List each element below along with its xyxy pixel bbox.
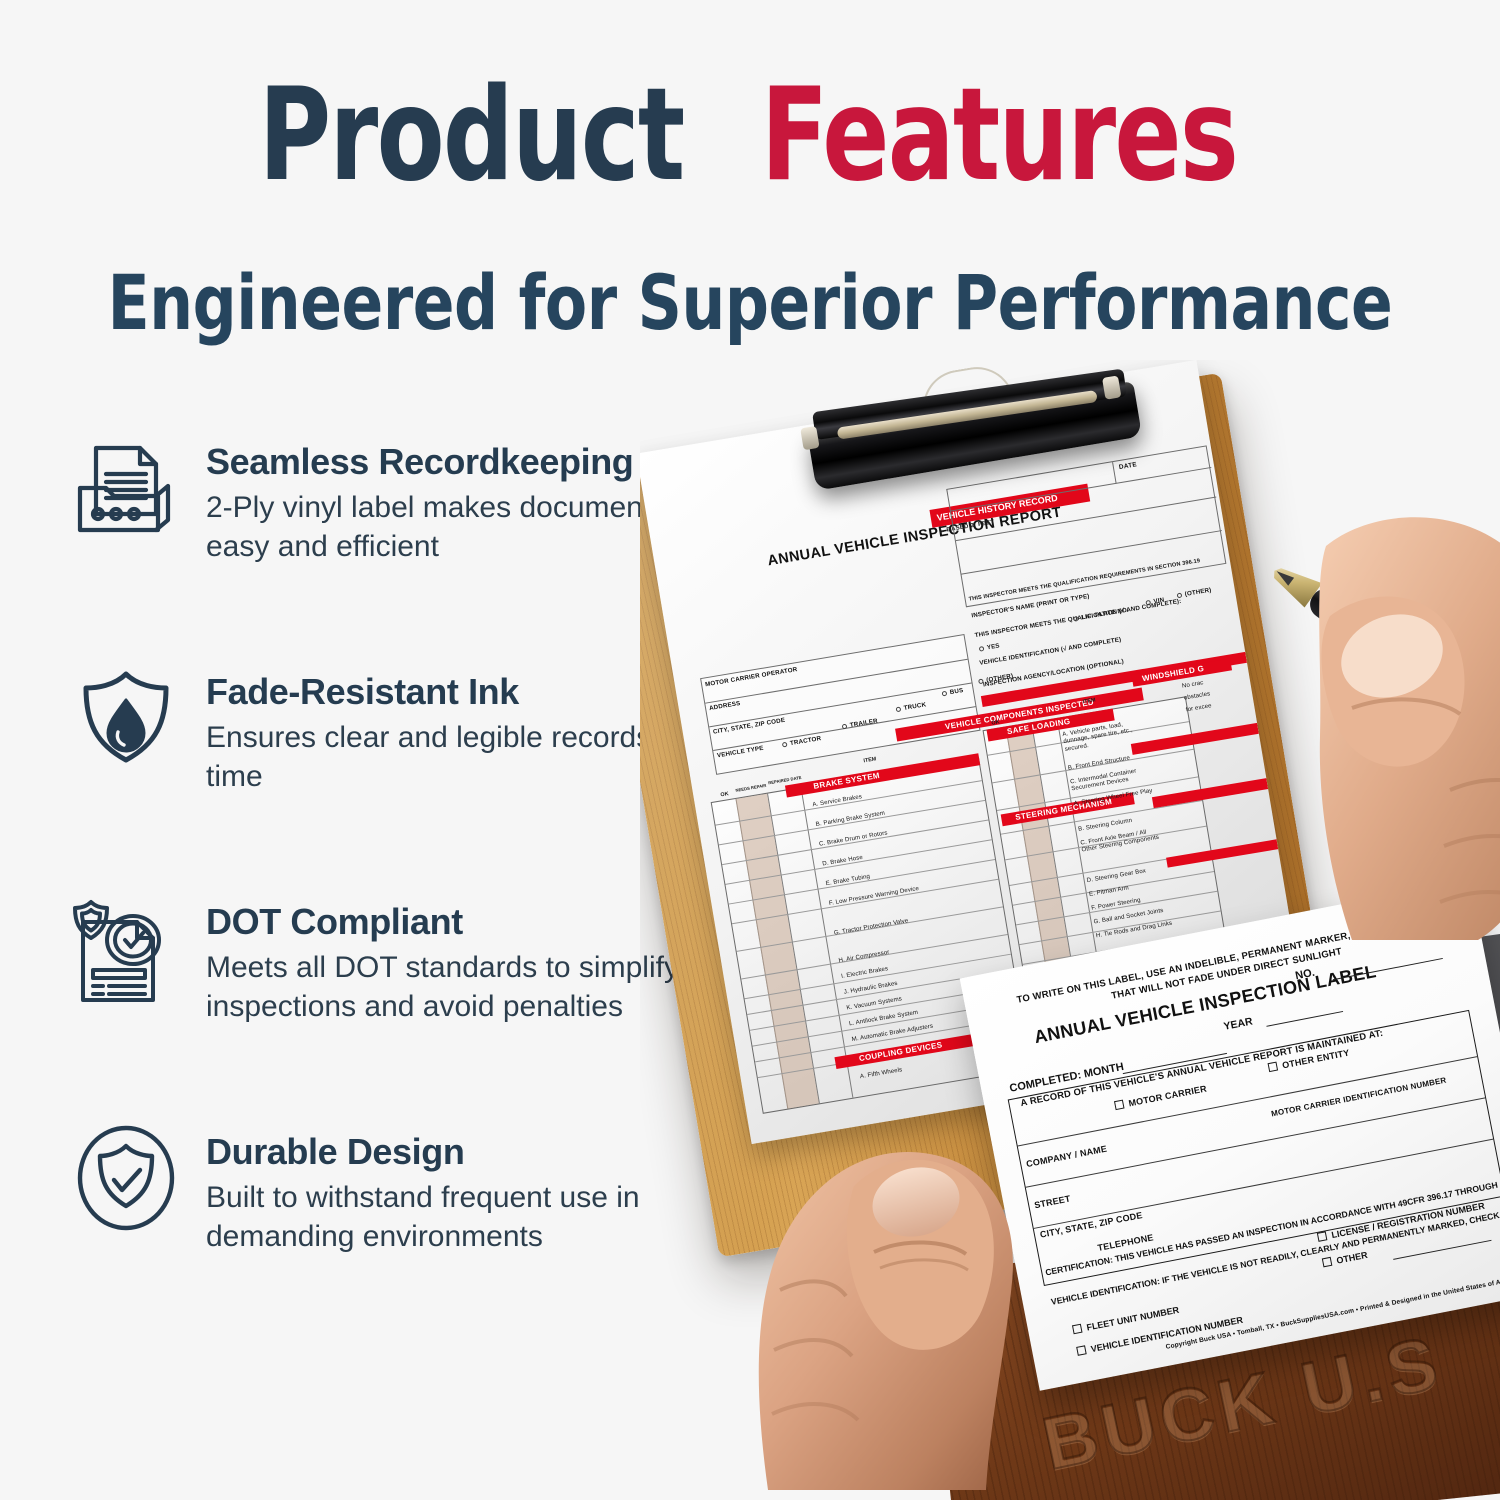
tractor-radio[interactable]: [782, 742, 788, 748]
lic-plate-option: LIC. PLATE NO.: [1073, 607, 1129, 623]
other-type-radio[interactable]: [978, 679, 984, 685]
page-subtitle: Engineered for Superior Performance: [75, 258, 1425, 347]
clip-pivot-right: [1102, 375, 1121, 399]
vin-radio[interactable]: [1145, 600, 1151, 606]
truck-radio[interactable]: [896, 707, 902, 713]
product-photo: BUCK U.S ANNUAL VEHICLE INSPECTION REPOR…: [640, 360, 1500, 1500]
col-needs-repair: NEEDS REPAIR: [735, 783, 767, 793]
hand-holding-clipboard: [750, 990, 1130, 1490]
lic-plate-radio[interactable]: [1073, 616, 1079, 622]
license-registration-checkbox[interactable]: [1317, 1231, 1328, 1242]
product-features-infographic: ProductFeatures Engineered for Superior …: [0, 0, 1500, 1500]
bus-radio[interactable]: [942, 691, 948, 697]
page-title: ProductFeatures: [0, 72, 1500, 200]
other-checkbox[interactable]: [1322, 1257, 1333, 1268]
label-year-rule: [1266, 1011, 1343, 1027]
other-id-option: (OTHER): [1176, 587, 1212, 600]
windshield-item: for excee: [1185, 702, 1212, 713]
hand-holding-pen: [1240, 490, 1500, 940]
col-item: ITEM: [850, 754, 890, 767]
shield-check-circle-icon: [62, 1118, 190, 1246]
windshield-item: obstacles: [1183, 690, 1210, 701]
document-check-shield-icon: [62, 888, 190, 1016]
documents-folder-icon: [62, 428, 190, 556]
clip-pivot-left: [800, 426, 819, 450]
label-year-field: YEAR: [1223, 1016, 1254, 1033]
page-title-primary: Product: [259, 72, 684, 200]
shield-droplet-icon: [62, 658, 190, 786]
yes-radio[interactable]: [979, 646, 985, 652]
yes-option: YES: [979, 642, 1001, 652]
trailer-radio[interactable]: [842, 724, 848, 730]
other-id-radio[interactable]: [1177, 593, 1183, 599]
label-other-rule: [1393, 1240, 1491, 1260]
page-title-accent: Features: [761, 72, 1237, 200]
windshield-item: No crac: [1181, 679, 1204, 689]
